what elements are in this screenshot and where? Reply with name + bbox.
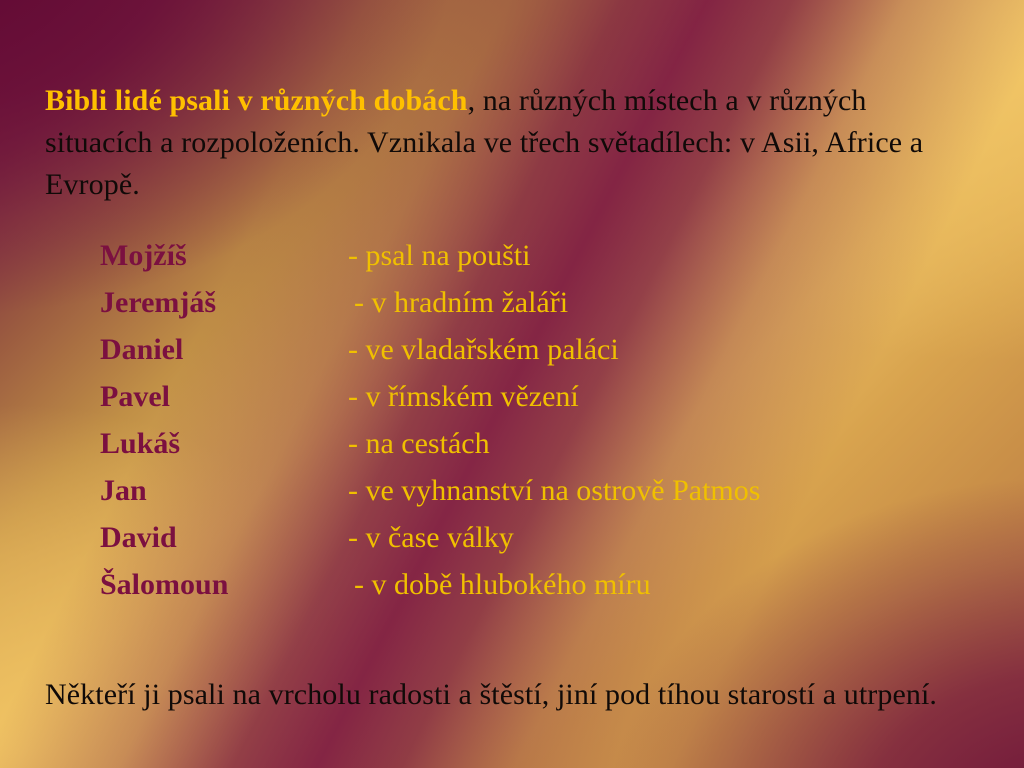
slide-canvas: Bibli lidé psali v různých dobách, na rů… <box>0 0 1024 768</box>
writer-description: - ve vyhnanství na ostrově Patmos <box>348 467 760 514</box>
intro-paragraph: Bibli lidé psali v různých dobách, na rů… <box>45 80 963 206</box>
writer-name: Lukáš <box>100 420 348 467</box>
writer-description: - v době hlubokého míru <box>348 561 651 608</box>
writer-row: Mojžíš- psal na poušti <box>100 232 980 279</box>
writer-name: Mojžíš <box>100 232 348 279</box>
writer-name: Jan <box>100 467 348 514</box>
writer-description: - psal na poušti <box>348 232 530 279</box>
writer-row: Jan- ve vyhnanství na ostrově Patmos <box>100 467 980 514</box>
writer-description: - ve vladařském paláci <box>348 326 619 373</box>
closing-paragraph: Někteří ji psali na vrcholu radosti a št… <box>45 673 963 717</box>
writer-row: David- v čase války <box>100 514 980 561</box>
writer-row: Pavel- v římském vězení <box>100 373 980 420</box>
writer-row: Daniel- ve vladařském paláci <box>100 326 980 373</box>
slide-content: Bibli lidé psali v různých dobách, na rů… <box>0 0 1024 768</box>
writer-row: Lukáš- na cestách <box>100 420 980 467</box>
writer-description: - v římském vězení <box>348 373 579 420</box>
writer-row: Šalomoun- v době hlubokého míru <box>100 561 980 608</box>
writer-name: Šalomoun <box>100 561 348 608</box>
writer-row: Jeremjáš- v hradním žaláři <box>100 279 980 326</box>
writer-name: Pavel <box>100 373 348 420</box>
intro-emphasis-text: Bibli lidé psali v různých dobách <box>45 84 468 117</box>
writer-description: - na cestách <box>348 420 490 467</box>
writers-list: Mojžíš- psal na poušti Jeremjáš- v hradn… <box>100 232 980 608</box>
writer-name: David <box>100 514 348 561</box>
writer-name: Daniel <box>100 326 348 373</box>
writer-name: Jeremjáš <box>100 279 348 326</box>
writer-description: - v hradním žaláři <box>348 279 568 326</box>
writer-description: - v čase války <box>348 514 514 561</box>
